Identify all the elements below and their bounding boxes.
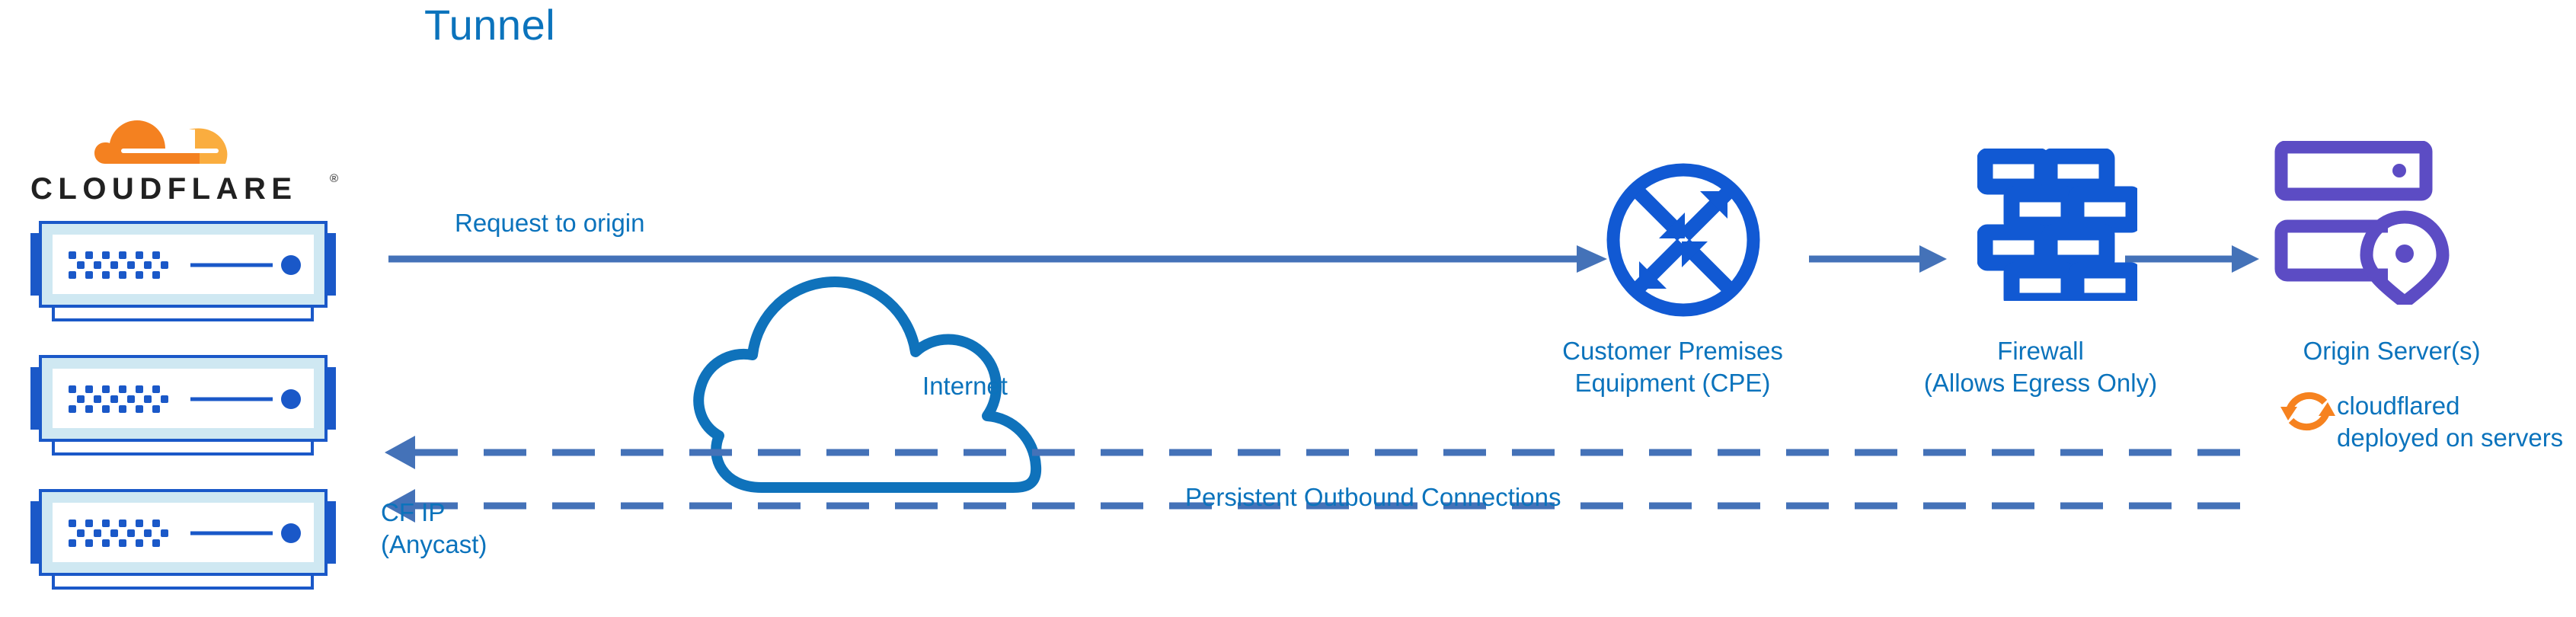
tunnel-architecture-diagram: Tunnel CLOUDFLARE ® — [0, 0, 2576, 617]
server-rack-location-pin-icon — [2274, 141, 2456, 308]
label-cpe: Customer Premises Equipment (CPE) — [1505, 335, 1840, 399]
label-cpe-line2: Equipment (CPE) — [1505, 367, 1840, 399]
label-firewall: Firewall (Allows Egress Only) — [1877, 335, 2204, 399]
connection-persistent-outbound-upper — [385, 436, 2256, 469]
label-firewall-line2: (Allows Egress Only) — [1877, 367, 2204, 399]
brick-wall-icon — [1977, 149, 2137, 305]
sync-circular-arrows-icon — [2277, 381, 2338, 446]
label-origin-servers: Origin Server(s) — [2232, 335, 2552, 367]
connection-cpe-to-firewall — [1809, 245, 1947, 273]
connection-request-to-origin — [388, 245, 1607, 273]
label-cf-ip-anycast: CF IP (Anycast) — [381, 497, 487, 561]
router-four-arrows-circle-icon — [1600, 156, 1767, 328]
label-firewall-line1: Firewall — [1877, 335, 2204, 367]
label-cf-ip-line1: CF IP — [381, 497, 487, 529]
label-persistent-outbound-connections: Persistent Outbound Connections — [1185, 481, 1561, 513]
label-cf-ip-line2: (Anycast) — [381, 529, 487, 561]
label-internet: Internet — [855, 370, 1075, 402]
connection-firewall-to-origin — [2125, 245, 2259, 273]
label-cloudflared-deployed: cloudflared deployed on servers — [2337, 390, 2565, 454]
label-request-to-origin: Request to origin — [455, 207, 644, 239]
label-cpe-line1: Customer Premises — [1505, 335, 1840, 367]
